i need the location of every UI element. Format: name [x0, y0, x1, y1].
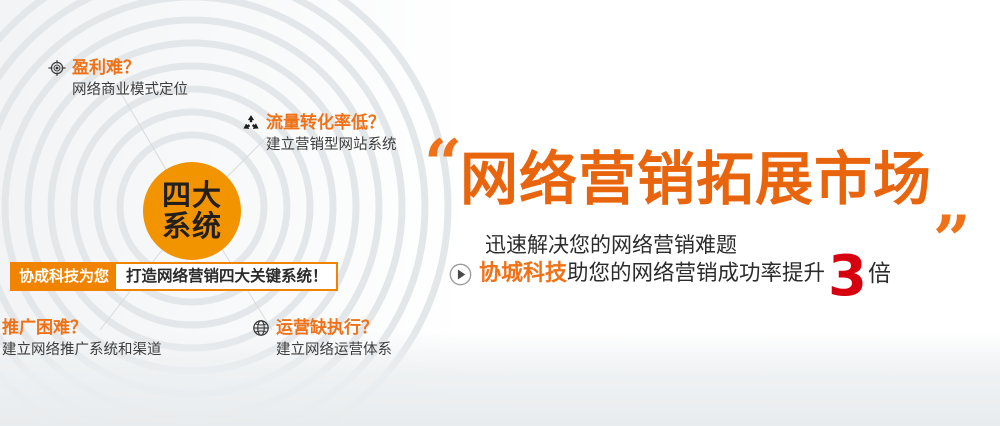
core-circle-line-1: 四大 [162, 180, 222, 211]
play-circle-icon [449, 263, 472, 286]
problem-item-profit[interactable]: 盈利难？ 网络商业模式定位 [48, 58, 188, 100]
problem-item-operation[interactable]: 运营缺执行？ 建立网络运营体系 [252, 318, 392, 360]
problem-item-traffic[interactable]: 流量转化率低？ 建立营销型网站系统 [242, 113, 397, 155]
problem-title: 推广困难？ [2, 318, 87, 338]
problem-subtitle: 建立网络推广系统和渠道 [2, 341, 162, 360]
subheadline-line-1: 迅速解决您的网络营销难题 [485, 232, 737, 258]
core-circle-line-2: 系统 [162, 211, 222, 242]
subheadline-line-2: 协城科技 助您的网络营销成功率提升 3 倍 [449, 260, 891, 288]
crosshair-target-icon [48, 59, 66, 77]
problem-title: 流量转化率低？ [266, 113, 385, 133]
problem-title: 运营缺执行？ [276, 318, 378, 338]
sub-rest-text: 助您的网络营销成功率提升 [567, 260, 825, 288]
recycle-icon [242, 114, 260, 132]
sub-brand-label: 协城科技 [479, 260, 567, 288]
multiplier-unit: 倍 [868, 260, 891, 288]
slogan-bar: 协成科技为您 打造网络营销四大关键系统！ [10, 262, 338, 291]
problem-subtitle: 网络商业模式定位 [72, 81, 188, 100]
problem-subtitle: 建立营销型网站系统 [266, 136, 397, 155]
quote-open-mark: “ [424, 138, 458, 190]
problem-item-promotion[interactable]: 推广困难？ 建立网络推广系统和渠道 [2, 318, 162, 360]
problem-subtitle: 建立网络运营体系 [276, 341, 392, 360]
problem-head: 盈利难？ [48, 58, 188, 78]
problem-head: 流量转化率低？ [242, 113, 397, 133]
problem-title: 盈利难？ [72, 58, 140, 78]
page-title: 网络营销拓展市场 [460, 140, 932, 218]
problem-head: 推广困难？ [2, 318, 162, 338]
globe-icon [252, 319, 270, 337]
problem-head: 运营缺执行？ [252, 318, 392, 338]
slogan-brand-label: 协成科技为您 [12, 264, 116, 289]
marketing-banner: 四大 系统 盈利难？ 网络商业模式定位 流量转化率低？ [0, 0, 1000, 426]
quote-close-mark: „ [934, 176, 968, 228]
headline-row: “ 网络营销拓展市场 „ [424, 140, 968, 226]
slogan-text: 打造网络营销四大关键系统！ [116, 264, 336, 289]
core-circle: 四大 系统 [143, 162, 241, 260]
multiplier-value: 3 [825, 263, 868, 291]
